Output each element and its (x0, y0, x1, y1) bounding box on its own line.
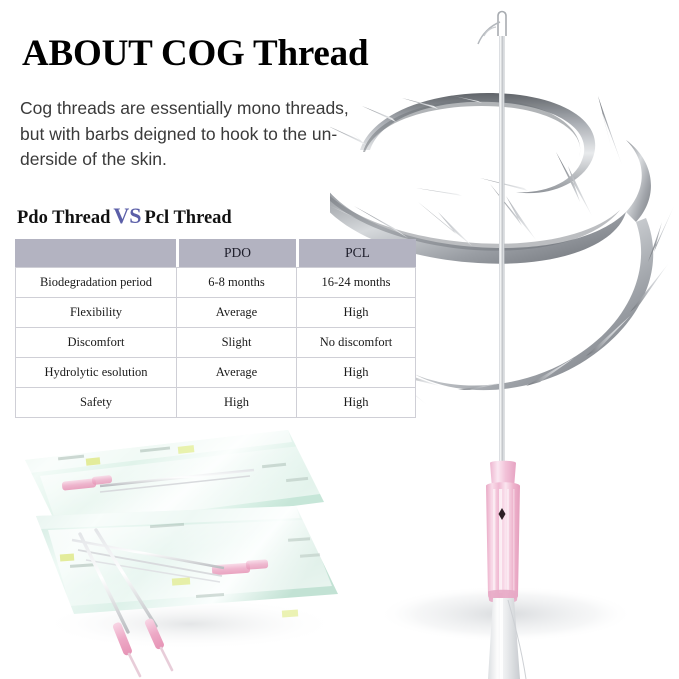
indicator-patch (86, 457, 101, 465)
indicator-patch (172, 577, 190, 585)
barb (450, 95, 482, 103)
hub (92, 475, 113, 485)
cell-property: Discomfort (15, 328, 176, 358)
comparison-heading: Pdo ThreadVSPcl Thread (17, 205, 232, 229)
column-header-pcl: PCL (296, 239, 416, 267)
steel-needle (478, 12, 506, 471)
sterile-package-photo (0, 418, 360, 679)
barb (598, 96, 622, 165)
barb (354, 206, 408, 238)
cell-pcl: High (296, 358, 416, 388)
micro-print (196, 593, 224, 598)
table-row: Hydrolytic esolution Average High (15, 358, 416, 388)
barb (416, 188, 462, 196)
barb (330, 198, 356, 218)
micro-print (286, 477, 308, 482)
pdo-pcl-comparison-table: PDO PCL Biodegradation period 6-8 months… (15, 239, 416, 418)
cell-pdo: Average (176, 298, 296, 328)
micro-print (288, 537, 310, 542)
surface-shadow (378, 586, 634, 642)
barb (480, 178, 528, 191)
micro-print (262, 463, 286, 468)
loose-needle-2 (96, 530, 172, 670)
cell-pcl: High (296, 298, 416, 328)
cell-property: Safety (15, 388, 176, 418)
intro-line-2: but with barbs deigned to hook to the un… (20, 122, 350, 148)
micro-print (150, 523, 184, 528)
pink-luer-hub (486, 461, 520, 603)
barb (586, 316, 630, 356)
cell-pcl: No discomfort (296, 328, 416, 358)
table-row: Safety High High (15, 388, 416, 418)
intro-paragraph: Cog threads are essentially mono threads… (20, 96, 350, 173)
indicator-patch (60, 554, 74, 562)
micro-print (140, 446, 170, 452)
cell-pdo: High (176, 388, 296, 418)
barb (402, 98, 438, 109)
package-contents (62, 470, 254, 492)
package-shadow (40, 598, 340, 650)
column-header-pdo: PDO (176, 239, 296, 267)
hub (246, 559, 269, 570)
barb (556, 152, 592, 216)
barb (648, 206, 674, 262)
hub (62, 478, 97, 491)
barb (630, 264, 668, 312)
cell-property: Flexibility (15, 298, 176, 328)
package-front (36, 506, 338, 618)
table-row: Biodegradation period 6-8 months 16-24 m… (15, 267, 416, 298)
cell-property: Hydrolytic esolution (15, 358, 176, 388)
barb (418, 202, 472, 246)
intro-line-1: Cog threads are essentially mono threads… (20, 96, 350, 122)
page-title: ABOUT COG Thread (22, 32, 368, 76)
indicator-patch (178, 445, 195, 454)
micro-print (58, 455, 84, 461)
clear-tube (488, 598, 526, 679)
vs-label: VS (110, 203, 144, 228)
table-row: Flexibility Average High (15, 298, 416, 328)
product-infographic: ABOUT COG Thread Cog threads are essenti… (0, 0, 679, 679)
barb (362, 106, 396, 122)
comparison-heading-left: Pdo Thread (17, 208, 110, 228)
hub-marker (499, 508, 506, 520)
cell-pdo: Average (176, 358, 296, 388)
barb (526, 358, 574, 386)
column-header-property (15, 239, 176, 267)
cell-pdo: Slight (176, 328, 296, 358)
thread-upper-loop (330, 93, 595, 196)
micro-print (300, 553, 320, 557)
hub (212, 563, 251, 576)
micro-print (70, 563, 96, 568)
cell-pcl: 16-24 months (296, 267, 416, 298)
comparison-heading-right: Pcl Thread (145, 208, 232, 228)
intro-line-3: derside of the skin. (20, 147, 350, 173)
package-back (25, 430, 324, 536)
barb (490, 184, 536, 240)
indicator-patch (282, 609, 298, 617)
table-header-row: PDO PCL (15, 239, 416, 267)
package-contents (72, 540, 268, 582)
cell-pdo: 6-8 months (176, 267, 296, 298)
cell-pcl: High (296, 388, 416, 418)
cell-property: Biodegradation period (15, 267, 176, 298)
barb (458, 382, 506, 390)
loose-needle-1 (80, 534, 140, 676)
table-row: Discomfort Slight No discomfort (15, 328, 416, 358)
